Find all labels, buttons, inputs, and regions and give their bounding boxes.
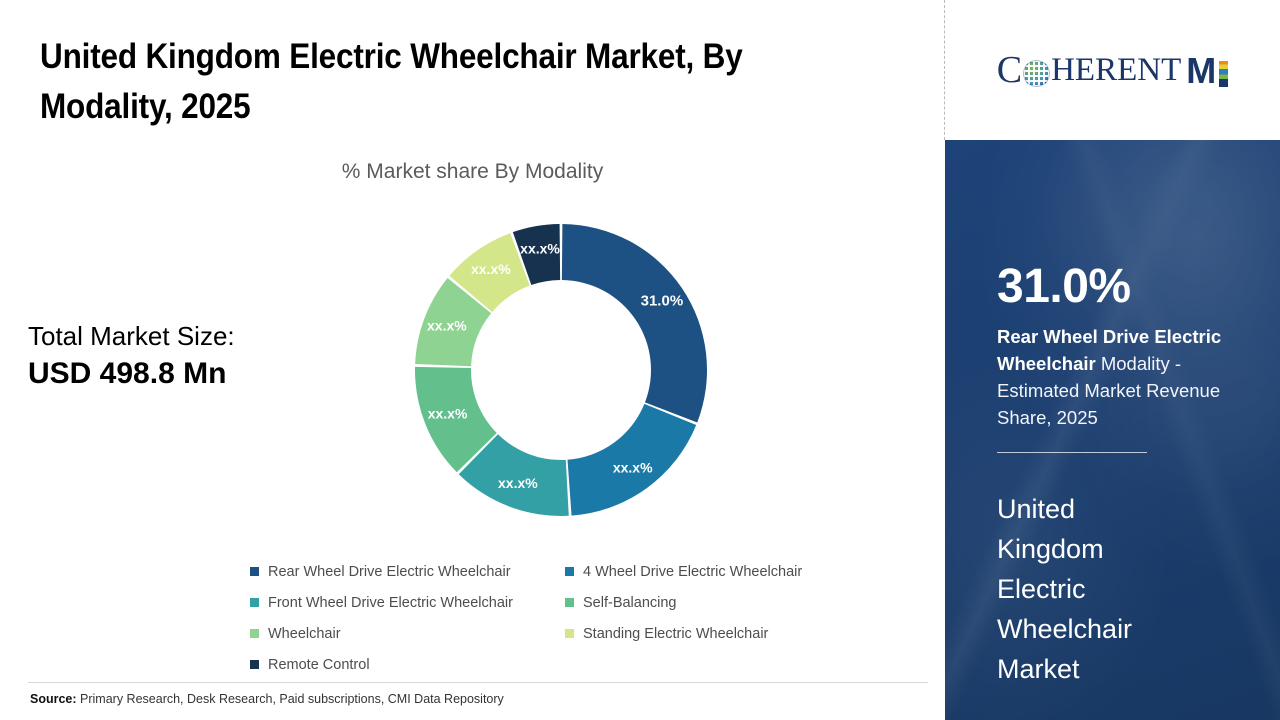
coherentmi-logo[interactable]: C HERENT M	[997, 51, 1229, 89]
logo-text-m: M	[1186, 53, 1216, 89]
right-sidebar: C HERENT M 31.0% Rear Wheel Drive Electr…	[945, 0, 1280, 720]
market-name-line: Electric	[997, 570, 1267, 610]
legend-swatch-icon	[250, 660, 259, 669]
donut-slice-label: xx.x%	[427, 318, 467, 334]
sidebar-highlight-panel: 31.0% Rear Wheel Drive Electric Wheelcha…	[945, 140, 1280, 720]
total-market-size-value: USD 498.8 Mn	[28, 355, 328, 393]
globe-icon	[1023, 60, 1050, 87]
legend-swatch-icon	[565, 629, 574, 638]
sidebar-market-name: UnitedKingdomElectricWheelchairMarket	[997, 490, 1267, 690]
page-title: United Kingdom Electric Wheelchair Marke…	[40, 32, 823, 131]
legend-label: 4 Wheel Drive Electric Wheelchair	[583, 564, 802, 580]
legend-item[interactable]: Rear Wheel Drive Electric Wheelchair	[250, 556, 555, 587]
donut-slice-label: xx.x%	[428, 406, 468, 422]
donut-chart: 31.0%xx.x%xx.x%xx.x%xx.x%xx.x%xx.x%	[405, 214, 717, 526]
legend-item[interactable]: Front Wheel Drive Electric Wheelchair	[250, 587, 555, 618]
market-name-line: Kingdom	[997, 530, 1267, 570]
legend-swatch-icon	[250, 629, 259, 638]
donut-slice-label: xx.x%	[471, 261, 511, 277]
legend-label: Front Wheel Drive Electric Wheelchair	[268, 595, 513, 611]
legend-swatch-icon	[250, 567, 259, 576]
legend-swatch-icon	[565, 598, 574, 607]
donut-slice-label: xx.x%	[520, 241, 560, 257]
legend-label: Rear Wheel Drive Electric Wheelchair	[268, 564, 511, 580]
main-content-area: United Kingdom Electric Wheelchair Marke…	[0, 0, 945, 720]
donut-slice-label: 31.0%	[641, 292, 684, 309]
legend-swatch-icon	[250, 598, 259, 607]
legend-item[interactable]: Self-Balancing	[565, 587, 870, 618]
chart-legend: Rear Wheel Drive Electric Wheelchair4 Wh…	[250, 556, 890, 680]
donut-slice-label: xx.x%	[613, 459, 653, 475]
source-text: Primary Research, Desk Research, Paid su…	[80, 692, 504, 706]
source-divider	[28, 682, 928, 683]
highlight-percent: 31.0%	[997, 263, 1131, 311]
logo-i-bar-icon	[1219, 61, 1228, 87]
highlight-description: Rear Wheel Drive Electric Wheelchair Mod…	[997, 323, 1255, 431]
total-market-size-label: Total Market Size:	[28, 320, 328, 353]
source-note: Source: Primary Research, Desk Research,…	[30, 692, 504, 706]
donut-slice-group	[415, 224, 707, 516]
legend-label: Self-Balancing	[583, 595, 677, 611]
logo-letter-c: C	[997, 51, 1022, 89]
legend-label: Wheelchair	[268, 626, 341, 642]
legend-label: Remote Control	[268, 657, 370, 673]
legend-item[interactable]: Standing Electric Wheelchair	[565, 618, 870, 649]
total-market-size-block: Total Market Size: USD 498.8 Mn	[28, 320, 328, 394]
brand-logo-area[interactable]: C HERENT M	[945, 0, 1280, 140]
donut-chart-svg: 31.0%xx.x%xx.x%xx.x%xx.x%xx.x%xx.x%	[405, 214, 717, 526]
logo-text-herent: HERENT	[1051, 54, 1181, 87]
market-name-line: Wheelchair	[997, 610, 1267, 650]
donut-slice-label: xx.x%	[498, 475, 538, 491]
chart-subtitle: % Market share By Modality	[0, 160, 945, 184]
legend-label: Standing Electric Wheelchair	[583, 626, 768, 642]
source-label: Source:	[30, 692, 77, 706]
legend-item[interactable]: 4 Wheel Drive Electric Wheelchair	[565, 556, 870, 587]
donut-slice	[562, 224, 707, 422]
infographic-page: United Kingdom Electric Wheelchair Marke…	[0, 0, 1280, 720]
market-name-line: United	[997, 490, 1267, 530]
market-name-line: Market	[997, 650, 1267, 690]
sidebar-rule	[997, 452, 1147, 453]
legend-item[interactable]: Wheelchair	[250, 618, 555, 649]
legend-item[interactable]: Remote Control	[250, 649, 555, 680]
legend-swatch-icon	[565, 567, 574, 576]
